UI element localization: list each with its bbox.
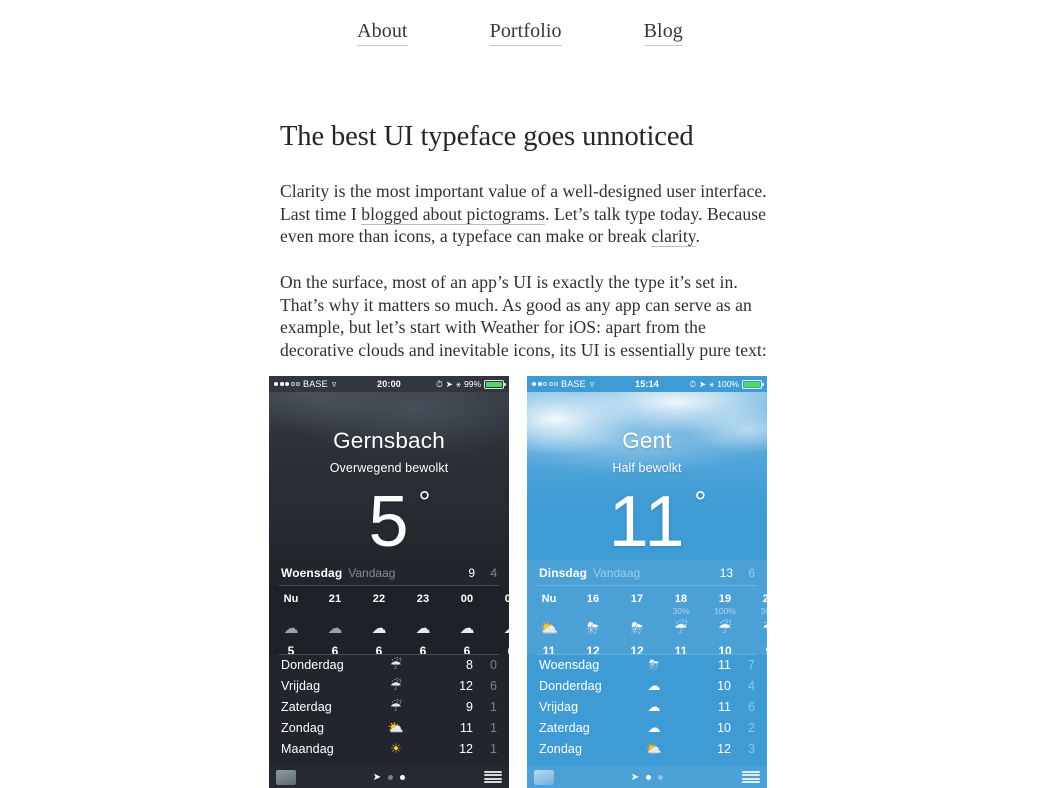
hour-label: 20	[747, 593, 767, 605]
page-indicator: ➤	[269, 772, 509, 783]
degree-symbol: °	[419, 488, 432, 518]
city-name: Gernsbach	[269, 430, 509, 453]
list-icon[interactable]	[484, 771, 502, 783]
sun-behind-cloud-icon: ⛅	[373, 720, 419, 736]
city-thumbnail-icon[interactable]	[534, 770, 554, 785]
status-bar-right: ⏱ ➤ ⚹ 100%	[689, 379, 762, 390]
day-name: Zaterdag	[281, 700, 373, 714]
hourly-cell: 18 30% ☔ 11	[659, 593, 703, 650]
phone-screenshot-gent: BASE ▿ 15:14 ⏱ ➤ ⚹ 100% Gent Half bewolk…	[527, 376, 767, 788]
link-blogged-about-pictograms[interactable]: blogged about pictograms	[361, 204, 545, 225]
sun-behind-cloud-icon: ⛅	[527, 617, 571, 641]
hourly-cell: 21 ☁ 6	[313, 593, 357, 650]
today-label: Vandaag	[348, 566, 395, 580]
current-condition: Half bewolkt	[527, 462, 767, 475]
hour-temperature: 9	[747, 644, 767, 654]
day-low: 0	[473, 658, 497, 672]
hour-label: Nu	[269, 593, 313, 605]
table-row[interactable]: Zondag ⛅ 12 3	[539, 738, 755, 759]
hour-temperature: 11	[659, 644, 703, 654]
day-high: 12	[717, 742, 731, 756]
cloud-icon: ☁	[401, 617, 445, 641]
nav-link-blog[interactable]: Blog	[644, 20, 683, 46]
alarm-icon: ⏱	[436, 379, 443, 390]
table-row[interactable]: Vrijdag ☁ 11 6	[539, 696, 755, 717]
day-low: 1	[473, 700, 497, 714]
table-row[interactable]: Woensdag ⛈ 11 7	[539, 654, 755, 675]
day-low: 3	[731, 742, 755, 756]
bluetooth-icon: ⚹	[709, 379, 714, 390]
current-temperature-value: 11	[609, 482, 686, 560]
hour-precipitation	[445, 606, 489, 616]
rain-cloud-icon: ☔	[373, 678, 419, 694]
current-temperature: 11°	[609, 486, 686, 558]
hour-temperature: 12	[571, 644, 615, 654]
hourly-cell: Nu ☁ 5	[269, 593, 313, 650]
hour-temperature: 6	[401, 644, 445, 654]
hourly-cell: 16 ⛈ 12	[571, 593, 615, 650]
rain-cloud-icon: ☔	[747, 617, 767, 641]
page-dot-active[interactable]	[646, 775, 651, 780]
hour-precipitation: 30%	[659, 606, 703, 616]
hour-precipitation	[527, 606, 571, 616]
day-name: Donderdag	[281, 658, 373, 672]
battery-icon	[742, 380, 762, 389]
hour-label: 16	[571, 593, 615, 605]
day-high: 11	[718, 700, 731, 714]
hour-label: Nu	[527, 593, 571, 605]
site-navigation: About Portfolio Blog	[0, 0, 1040, 58]
hourly-cell: 19 100% ☔ 10	[703, 593, 747, 650]
day-low: 1	[473, 721, 497, 735]
hour-label: 23	[401, 593, 445, 605]
hour-temperature: 6	[313, 644, 357, 654]
hourly-cell: Nu ⛅ 11	[527, 593, 571, 650]
hourly-forecast-strip[interactable]: Nu ⛅ 11 16 ⛈ 12 17 ⛈ 12 18 30% ☔ 11	[527, 586, 767, 654]
nav-link-portfolio[interactable]: Portfolio	[490, 20, 562, 46]
day-name: Zaterdag	[539, 721, 631, 735]
hour-label: 19	[703, 593, 747, 605]
current-temperature: 5°	[368, 486, 409, 558]
cloud-icon: ☁	[631, 720, 677, 736]
hour-temperature: 12	[615, 644, 659, 654]
table-row[interactable]: Zaterdag ☔ 9 1	[281, 696, 497, 717]
cloud-icon: ☁	[313, 617, 357, 641]
hourly-cell: 20 30% ☔ 9	[747, 593, 767, 650]
status-bar: BASE ▿ 15:14 ⏱ ➤ ⚹ 100%	[527, 376, 767, 392]
hour-temperature: 6	[445, 644, 489, 654]
nav-link-about[interactable]: About	[357, 20, 408, 46]
table-row[interactable]: Maandag ☀ 12 1	[281, 738, 497, 759]
weather-screenshots: BASE ▿ 20:00 ⏱ ➤ ⚹ 99% Gernsbach Overweg…	[269, 376, 767, 788]
bluetooth-icon: ⚹	[456, 379, 461, 390]
day-name: Zondag	[281, 721, 373, 735]
hour-precipitation	[357, 606, 401, 616]
hourly-cell: 01 ☁ 6	[489, 593, 509, 650]
daily-forecast-list: Woensdag ⛈ 11 7 Donderdag ☁ 10 4 Vrijdag…	[527, 654, 767, 766]
rain-cloud-icon: ☔	[373, 657, 419, 673]
city-thumbnail-icon[interactable]	[276, 770, 296, 785]
list-icon[interactable]	[742, 771, 760, 783]
today-summary-row[interactable]: Dinsdag Vandaag 13 6	[527, 560, 767, 586]
sun-behind-cloud-icon: ⛅	[631, 741, 677, 757]
hour-temperature: 10	[703, 644, 747, 654]
degree-symbol: °	[694, 488, 707, 518]
day-low: 2	[731, 721, 755, 735]
daily-forecast-list: Donderdag ☔ 8 0 Vrijdag ☔ 12 6 Zaterdag …	[269, 654, 509, 766]
day-high: 10	[717, 679, 731, 693]
paragraph-1-text-part-3: .	[696, 226, 700, 246]
today-high: 9	[468, 566, 475, 580]
day-low: 1	[473, 742, 497, 756]
current-temperature-value: 5	[368, 482, 409, 560]
status-bar-right: ⏱ ➤ ⚹ 99%	[436, 379, 504, 390]
today-label: Vandaag	[593, 566, 640, 580]
hour-label: 21	[313, 593, 357, 605]
current-weather-hero: Gent Half bewolkt 11°	[527, 392, 767, 560]
hour-precipitation	[313, 606, 357, 616]
day-name: Vrijdag	[281, 679, 373, 693]
hour-precipitation	[615, 606, 659, 616]
page-dot-active[interactable]	[400, 775, 405, 780]
hour-precipitation: 30%	[747, 606, 767, 616]
page-title: The best UI typeface goes unnoticed	[280, 120, 770, 154]
day-low: 6	[473, 679, 497, 693]
cloud-icon: ☁	[631, 678, 677, 694]
cloud-icon: ☁	[357, 617, 401, 641]
rain-cloud-icon: ☔	[703, 617, 747, 641]
table-row[interactable]: Donderdag ☁ 10 4	[539, 675, 755, 696]
link-clarity[interactable]: clarity	[651, 226, 695, 247]
hour-label: 01	[489, 593, 509, 605]
page-dot[interactable]	[388, 775, 393, 780]
day-high: 12	[459, 679, 473, 693]
bottom-toolbar: ➤	[269, 766, 509, 788]
hour-precipitation	[269, 606, 313, 616]
city-name: Gent	[527, 430, 767, 453]
hour-label: 17	[615, 593, 659, 605]
cloud-icon: ☁	[489, 617, 509, 641]
sun-icon: ☀	[373, 741, 419, 757]
table-row[interactable]: Donderdag ☔ 8 0	[281, 654, 497, 675]
current-condition: Overwegend bewolkt	[269, 462, 509, 475]
hour-precipitation: 100%	[703, 606, 747, 616]
today-high: 13	[720, 566, 733, 580]
day-high: 11	[718, 658, 731, 672]
rain-cloud-icon: ☔	[659, 617, 703, 641]
hour-temperature: 5	[269, 644, 313, 654]
day-high: 10	[717, 721, 731, 735]
cloud-icon: ☁	[631, 699, 677, 715]
hourly-cell: 22 ☁ 6	[357, 593, 401, 650]
day-name: Maandag	[281, 742, 373, 756]
wind-icon: ⛈	[615, 617, 659, 641]
day-low: 6	[731, 700, 755, 714]
day-high: 9	[466, 700, 473, 714]
page-indicator: ➤	[527, 772, 767, 783]
hourly-cell: 00 ☁ 6	[445, 593, 489, 650]
article: The best UI typeface goes unnoticed Clar…	[270, 120, 770, 361]
day-high: 8	[466, 658, 473, 672]
hour-temperature: 6	[489, 644, 509, 654]
wind-icon: ⛈	[571, 617, 615, 641]
current-weather-hero: Gernsbach Overwegend bewolkt 5°	[269, 392, 509, 560]
cloud-icon: ☁	[445, 617, 489, 641]
today-summary-row[interactable]: Woensdag Vandaag 9 4	[269, 560, 509, 586]
today-low: 4	[475, 566, 497, 580]
phone-screenshot-gernsbach: BASE ▿ 20:00 ⏱ ➤ ⚹ 99% Gernsbach Overweg…	[269, 376, 509, 788]
day-name: Donderdag	[539, 679, 631, 693]
page-dot[interactable]	[658, 775, 663, 780]
today-day-name: Dinsdag	[539, 566, 587, 580]
rain-cloud-icon: ☔	[373, 699, 419, 715]
hour-label: 22	[357, 593, 401, 605]
hourly-cell: 17 ⛈ 12	[615, 593, 659, 650]
cloud-icon: ☁	[269, 617, 313, 641]
location-services-icon: ➤	[446, 379, 453, 390]
battery-percent-label: 100%	[717, 379, 739, 389]
day-name: Vrijdag	[539, 700, 631, 714]
today-low: 6	[733, 566, 755, 580]
status-bar: BASE ▿ 20:00 ⏱ ➤ ⚹ 99%	[269, 376, 509, 392]
wind-icon: ⛈	[631, 657, 677, 673]
alarm-icon: ⏱	[689, 379, 696, 390]
bottom-toolbar: ➤	[527, 766, 767, 788]
hour-precipitation	[401, 606, 445, 616]
hourly-cell: 23 ☁ 6	[401, 593, 445, 650]
hour-temperature: 11	[527, 644, 571, 654]
day-name: Woensdag	[539, 658, 631, 672]
hourly-forecast-strip[interactable]: Nu ☁ 5 21 ☁ 6 22 ☁ 6 23 ☁ 6	[269, 586, 509, 654]
battery-icon	[484, 380, 504, 389]
day-low: 4	[731, 679, 755, 693]
hour-temperature: 6	[357, 644, 401, 654]
article-paragraph-1: Clarity is the most important value of a…	[280, 180, 770, 248]
hour-precipitation	[489, 606, 509, 616]
hour-label: 18	[659, 593, 703, 605]
battery-percent-label: 99%	[464, 379, 481, 389]
location-arrow-icon[interactable]: ➤	[631, 772, 639, 783]
day-high: 12	[459, 742, 473, 756]
day-high: 11	[460, 721, 473, 735]
location-services-icon: ➤	[699, 379, 706, 390]
hour-precipitation	[571, 606, 615, 616]
today-day-name: Woensdag	[281, 566, 342, 580]
table-row[interactable]: Vrijdag ☔ 12 6	[281, 675, 497, 696]
table-row[interactable]: Zondag ⛅ 11 1	[281, 717, 497, 738]
table-row[interactable]: Zaterdag ☁ 10 2	[539, 717, 755, 738]
hour-label: 00	[445, 593, 489, 605]
location-arrow-icon[interactable]: ➤	[373, 772, 381, 783]
article-paragraph-2: On the surface, most of an app’s UI is e…	[280, 271, 770, 361]
day-low: 7	[731, 658, 755, 672]
day-name: Zondag	[539, 742, 631, 756]
